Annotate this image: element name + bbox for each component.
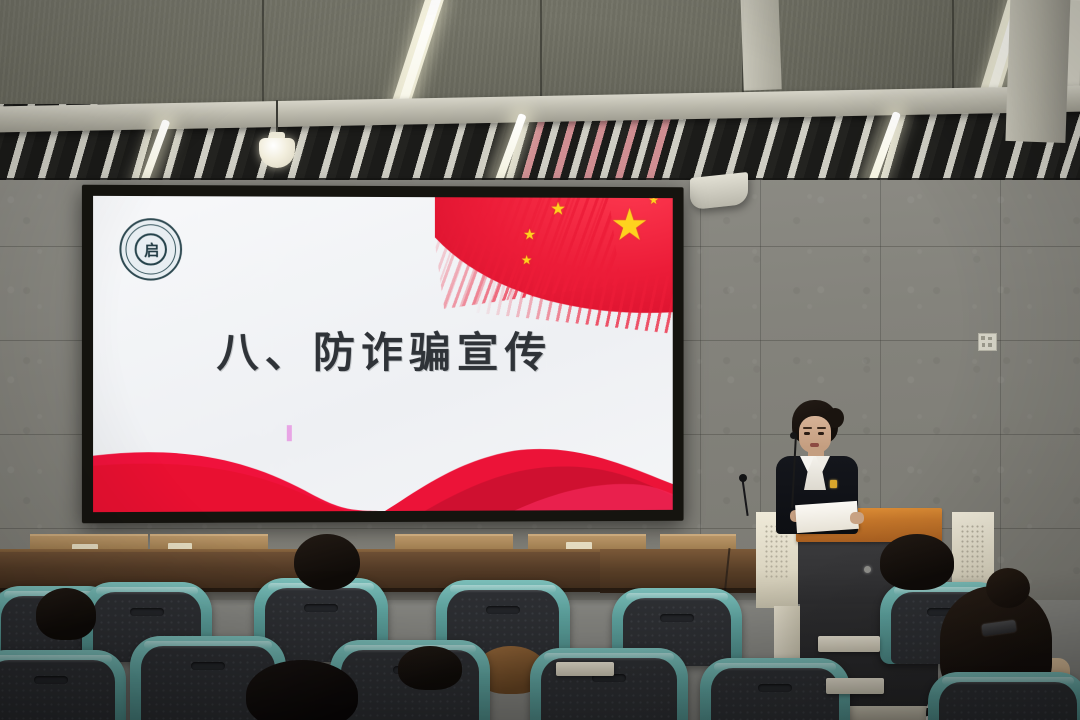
seat-front-4[interactable]: [530, 648, 688, 720]
wave-svg: [93, 430, 673, 512]
secondary-microphone-head: [739, 474, 747, 482]
projection-screen-display: ★ ★ ★ ★ ★ 启 八、防诈骗宣传: [93, 196, 673, 512]
auditorium-photo-scene: ★ ★ ★ ★ ★ 启 八、防诈骗宣传: [0, 0, 1080, 720]
slide-title-text: 八、防诈骗宣传: [93, 319, 673, 380]
flag-star-small-2: ★: [523, 227, 536, 242]
ceiling-area: [0, 0, 1080, 192]
flag-star-small-3: ★: [521, 253, 533, 266]
presenter-hand-right: [850, 512, 864, 524]
presenter-mouth: [810, 443, 819, 447]
folding-writing-tray-3[interactable]: [826, 678, 884, 694]
audience-head-2: [294, 534, 360, 590]
presenter-face: [799, 416, 831, 453]
institution-seal-logo: 启: [119, 218, 182, 281]
flag-star-small-1: ★: [550, 200, 566, 218]
seat-front-right[interactable]: [928, 672, 1080, 720]
chinese-national-flag-graphic: ★ ★ ★ ★ ★: [435, 196, 673, 333]
audience-head-1: [36, 588, 96, 640]
attendee-hair-bun: [986, 568, 1030, 608]
ceiling-beam-vertical-right: [1005, 0, 1070, 143]
seal-inner-glyph: 启: [135, 233, 167, 265]
flag-star-small-4: ★: [648, 196, 659, 206]
podium-control-button[interactable]: [864, 566, 871, 573]
audience-head-5: [246, 660, 358, 720]
presenter-lapel-badge: [830, 480, 837, 488]
ceiling-beam-vertical-mid: [740, 0, 781, 91]
projection-screen-frame: ★ ★ ★ ★ ★ 启 八、防诈骗宣传: [82, 185, 684, 524]
flag-star-large: ★: [610, 204, 649, 248]
folding-writing-tray-2[interactable]: [818, 636, 880, 652]
microphone-head: [790, 432, 797, 439]
seat-front-1[interactable]: [0, 650, 126, 720]
audience-head-6: [398, 646, 462, 690]
presenter-at-podium: [770, 400, 890, 540]
wall-outlet-plate: [978, 333, 997, 351]
folding-writing-tray-1[interactable]: [556, 662, 614, 676]
slide-wave-decoration: [93, 430, 673, 512]
